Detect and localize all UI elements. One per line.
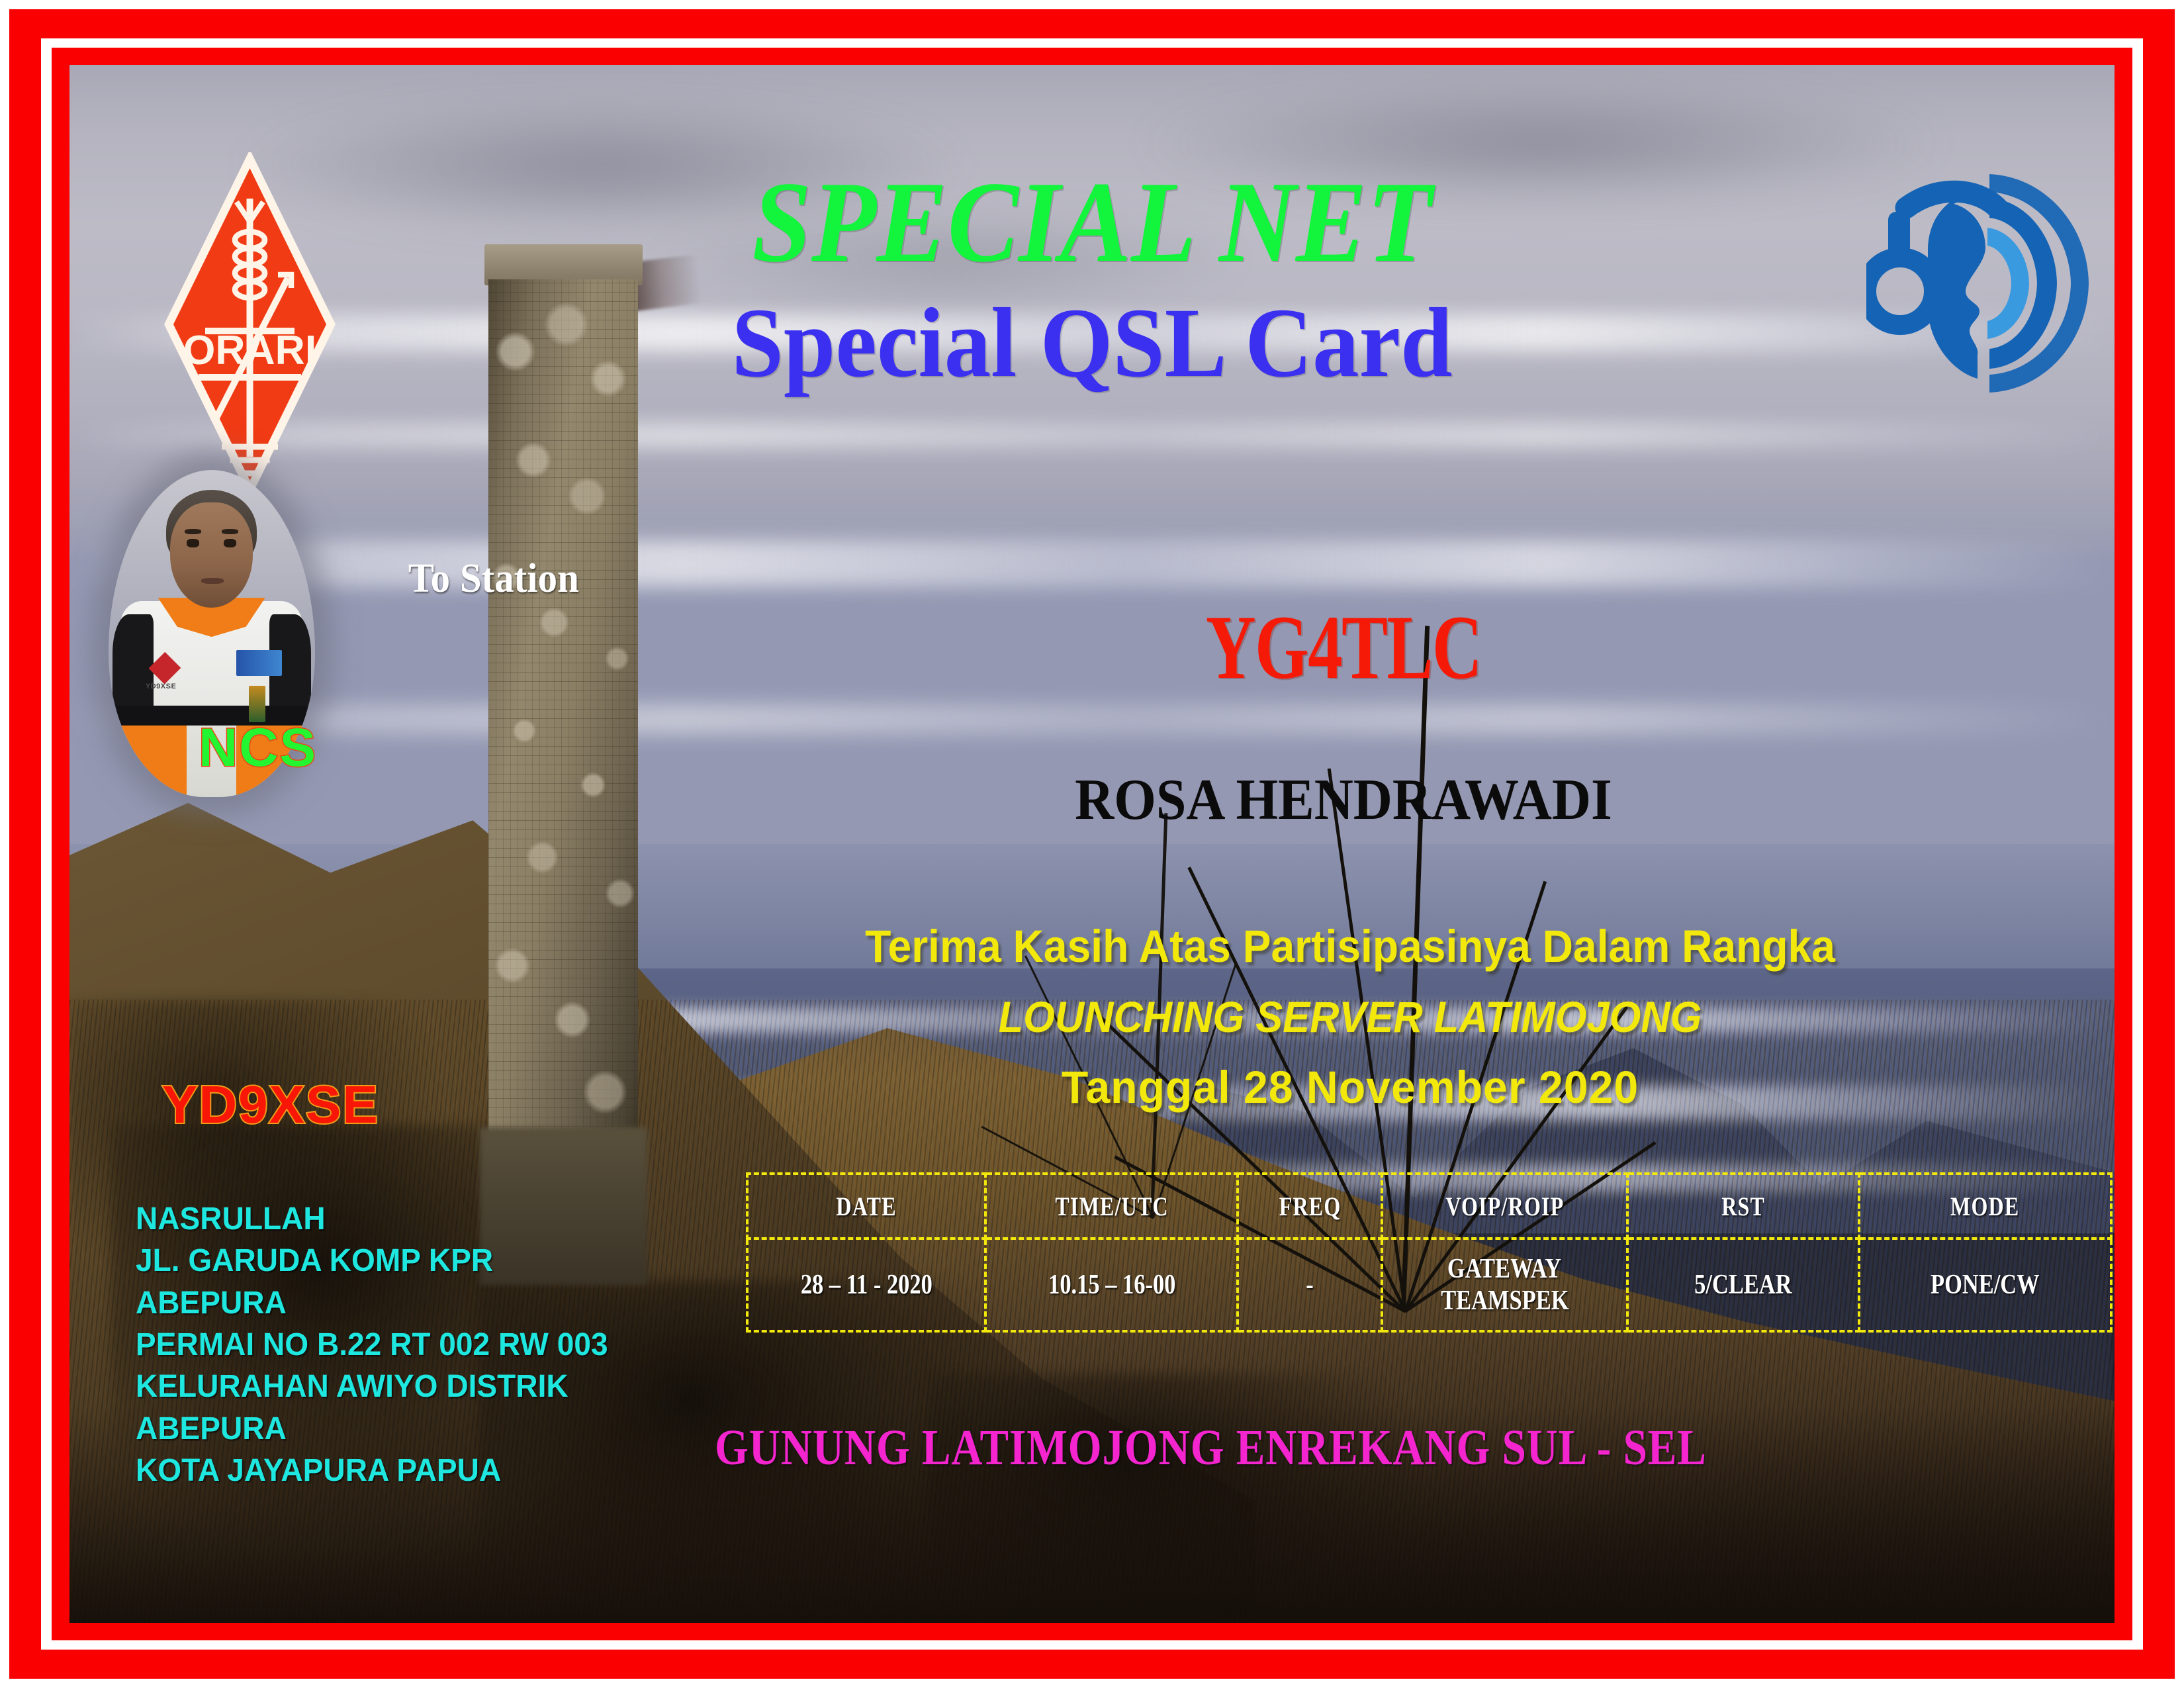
- table-header-date: DATE: [747, 1174, 985, 1239]
- cairn-body: [488, 279, 638, 1182]
- cloud-streak: [69, 540, 2115, 587]
- operator-eye: [224, 539, 236, 547]
- table-header-row: DATE TIME/UTC FREQ VOIP/ROIP RST MODE: [747, 1174, 2111, 1239]
- location-line: GUNUNG LATIMOJONG ENREKANG SUL - SEL: [715, 1419, 1707, 1477]
- qso-log-table: DATE TIME/UTC FREQ VOIP/ROIP RST MODE 28…: [746, 1172, 2113, 1333]
- uniform-callsign-text: YD9XSE: [146, 682, 176, 690]
- ncs-callsign-label: YD9XSE: [162, 1074, 379, 1135]
- address-line: JL. GARUDA KOMP KPR: [136, 1240, 608, 1282]
- ncs-role-label: NCS: [199, 717, 317, 779]
- voip-value-line2: TEAMSPEK: [1441, 1286, 1569, 1317]
- voip-value-line1: GATEWAY: [1447, 1254, 1561, 1285]
- cloud-streak: [69, 423, 2115, 448]
- station-callsign: YG4TLC: [828, 594, 1859, 700]
- table-cell-mode: PONE/CW: [1859, 1239, 2111, 1331]
- thanks-line-1: Terima Kasih Atas Partisipasinya Dalam R…: [713, 920, 1987, 972]
- table-cell-voip: GATEWAY TEAMSPEK: [1382, 1239, 1627, 1331]
- thanks-line-2-event: LOUNCHING SERVER LATIMOJONG: [713, 992, 1987, 1042]
- address-line: ABEPURA: [136, 1282, 608, 1324]
- address-line: ABEPURA: [136, 1408, 608, 1450]
- page-title-special-net: SPECIAL NET: [152, 164, 2033, 280]
- operator-eyebrow: [222, 529, 238, 534]
- table-cell-rst: 5/CLEAR: [1627, 1239, 1859, 1331]
- cloud-streak: [69, 704, 2115, 735]
- address-line: KELURAHAN AWIYO DISTRIK: [136, 1366, 608, 1407]
- address-line: NASRULLAH: [136, 1198, 608, 1240]
- table-cell-freq: -: [1238, 1239, 1382, 1331]
- qsl-card: ORARI: [0, 0, 2184, 1688]
- table-cell-date: 28 – 11 - 2020: [747, 1239, 985, 1331]
- thanks-line-3-date: Tanggal 28 November 2020: [692, 1061, 2007, 1113]
- uniform-shoulder-left: [113, 614, 154, 712]
- operator-mouth: [201, 578, 224, 584]
- card-photo-area: ORARI: [69, 65, 2115, 1623]
- operator-name: ROSA HENDRAWADI: [713, 767, 1975, 833]
- address-line: PERMAI NO B.22 RT 002 RW 003: [136, 1324, 608, 1366]
- table-cell-time: 10.15 – 16-00: [985, 1239, 1238, 1331]
- to-station-label: To Station: [408, 558, 579, 599]
- table-row: 28 – 11 - 2020 10.15 – 16-00 - GATEWAY T…: [747, 1239, 2111, 1331]
- table-header-voip: VOIP/ROIP: [1382, 1174, 1627, 1239]
- callsign-container: YG4TLC: [665, 594, 2022, 700]
- operator-face: [170, 502, 253, 607]
- operator-eyebrow: [185, 529, 201, 534]
- table-header-freq: FREQ: [1238, 1174, 1382, 1239]
- table-header-mode: MODE: [1859, 1174, 2111, 1239]
- uniform-orange-left: [116, 726, 187, 798]
- table-header-time: TIME/UTC: [985, 1174, 1238, 1239]
- table-header-rst: RST: [1627, 1174, 1859, 1239]
- uniform-patch-blue: [236, 650, 282, 677]
- operator-eye: [187, 539, 199, 547]
- address-line: KOTA JAYAPURA PAPUA: [136, 1450, 608, 1491]
- page-subtitle-qsl-card: Special QSL Card: [131, 293, 2054, 393]
- station-address-block: NASRULLAH JL. GARUDA KOMP KPR ABEPURA PE…: [136, 1198, 608, 1492]
